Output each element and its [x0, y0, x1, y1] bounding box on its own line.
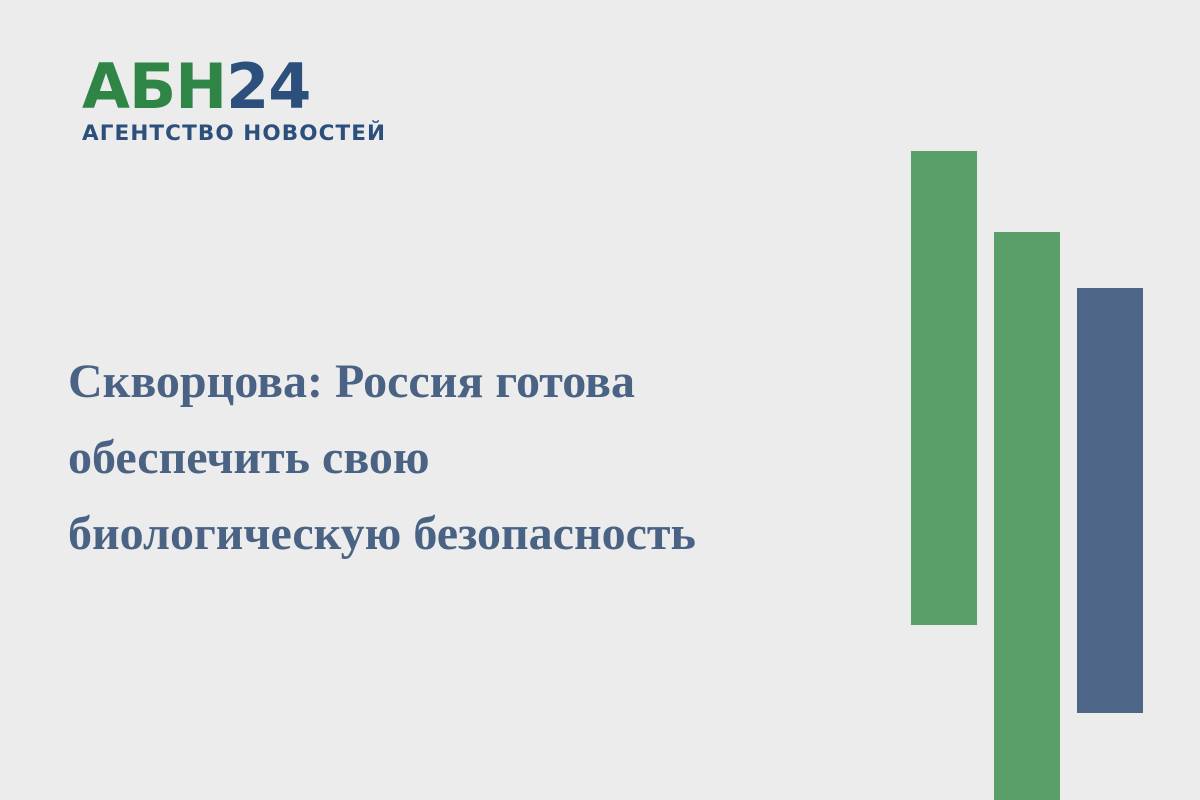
decorative-bar-right — [1077, 288, 1143, 713]
headline-line-1: Скворцова: Россия готова — [68, 344, 858, 420]
logo-tagline: АГЕНТСТВО НОВОСТЕЙ — [82, 121, 382, 146]
abn24-logo[interactable]: АБН24 АГЕНТСТВО НОВОСТЕЙ — [82, 58, 382, 146]
decorative-bar-left — [911, 151, 977, 625]
logo-wordmark: АБН24 — [82, 58, 382, 117]
logo-text-24: 24 — [226, 50, 310, 123]
headline: Скворцова: Россия готова обеспечить свою… — [68, 344, 858, 571]
news-card: АБН24 АГЕНТСТВО НОВОСТЕЙ Скворцова: Росс… — [0, 0, 1200, 800]
decorative-bar-middle — [994, 232, 1060, 800]
headline-line-2: обеспечить свою — [68, 420, 858, 496]
logo-text-abn: АБН — [82, 50, 226, 123]
headline-line-3: биологическую безопасность — [68, 496, 858, 572]
